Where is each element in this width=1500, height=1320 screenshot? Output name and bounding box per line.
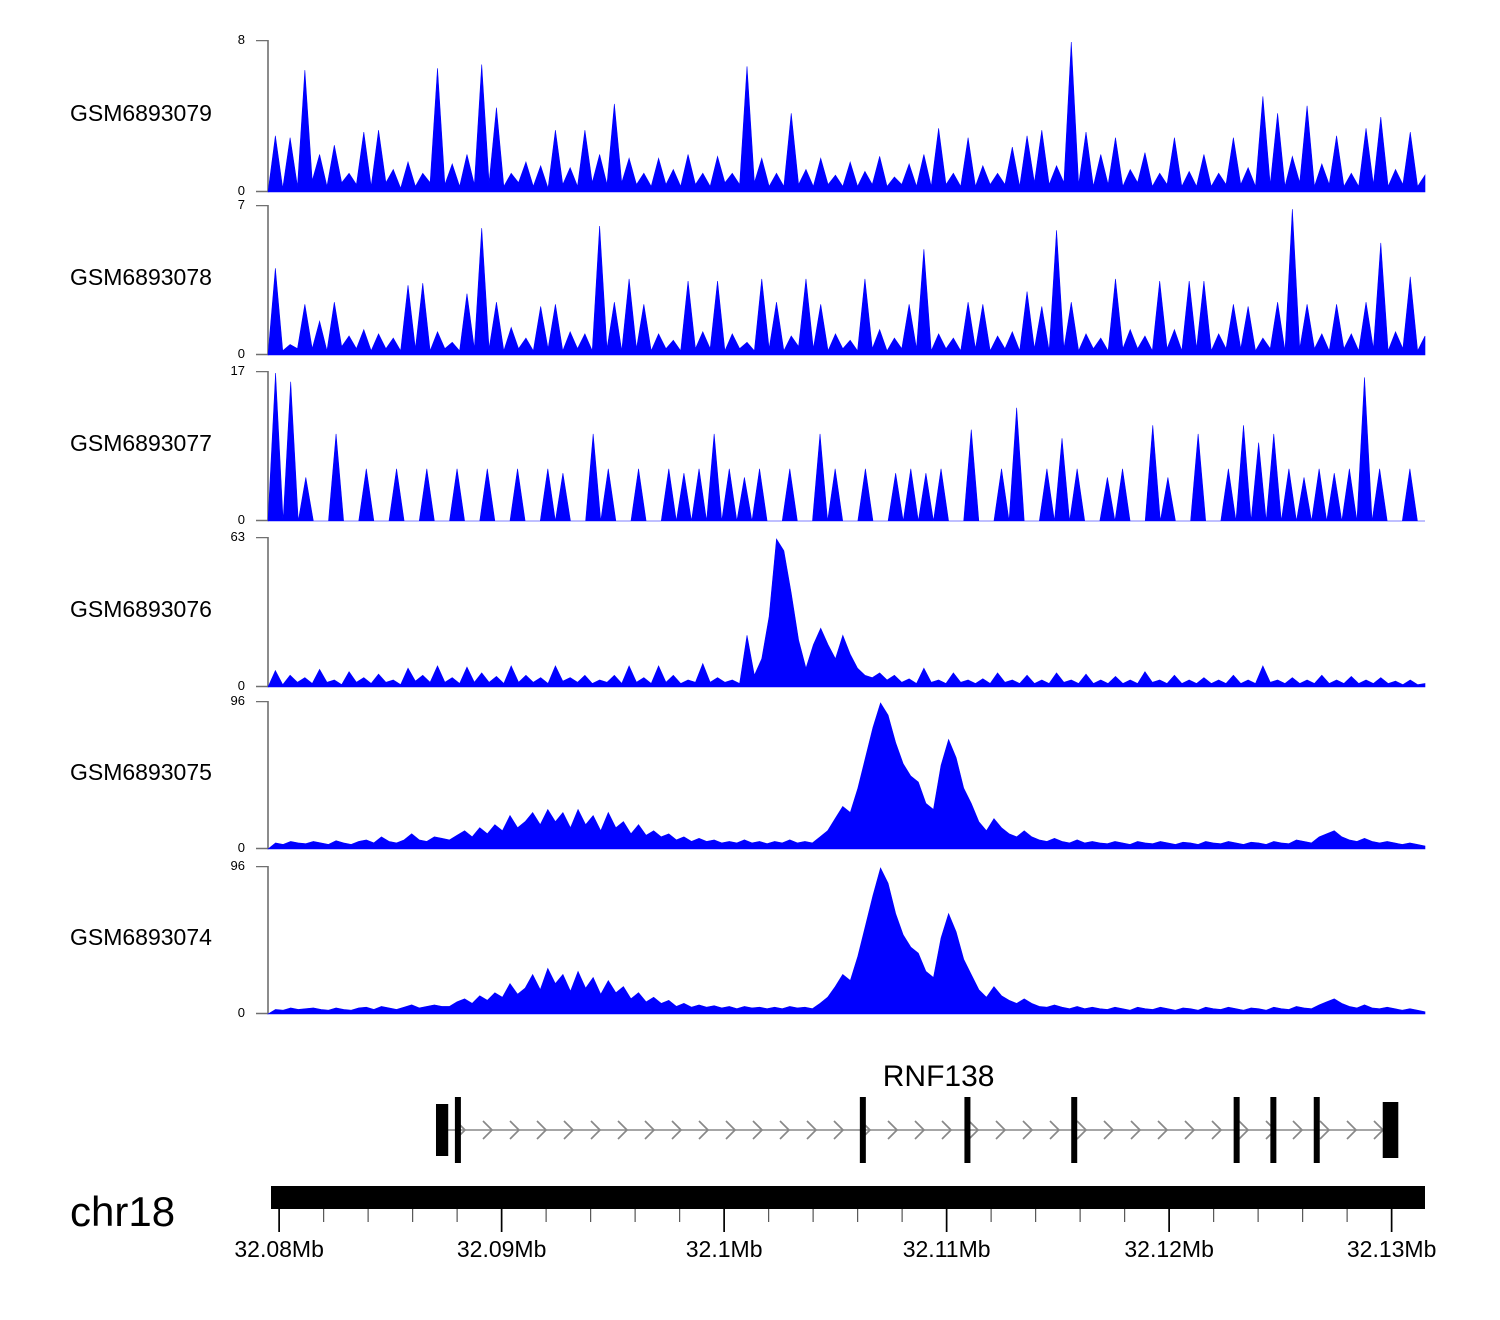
genome-browser-figure: GSM689307980GSM689307870GSM6893077170GSM… (0, 0, 1500, 1320)
exon-marker (455, 1097, 461, 1163)
gene-name-label: RNF138 (883, 1060, 995, 1094)
coverage-plot (0, 701, 1500, 855)
track-y-axis (256, 372, 268, 521)
coverage-plot (0, 205, 1500, 361)
coverage-area (268, 42, 1425, 192)
track-y-axis (256, 538, 268, 687)
axis-tick-label: 32.09Mb (457, 1236, 547, 1263)
axis-tick-label: 32.13Mb (1347, 1236, 1437, 1263)
track-y-axis (256, 41, 268, 192)
coverage-area (268, 703, 1425, 849)
utr-block (1383, 1102, 1399, 1158)
exon-marker (1314, 1097, 1320, 1163)
coverage-plot (0, 40, 1500, 198)
coverage-track: GSM6893074960 (0, 866, 1500, 1014)
exon-marker (1071, 1097, 1077, 1163)
exon-marker (964, 1097, 970, 1163)
coverage-track: GSM6893076630 (0, 537, 1500, 687)
coverage-plot (0, 371, 1500, 527)
axis-tick-label: 32.12Mb (1124, 1236, 1214, 1263)
coverage-plot (0, 537, 1500, 693)
chromosome-bar (271, 1186, 1425, 1209)
gene-model-svg (0, 1050, 1500, 1190)
exon-marker (860, 1097, 866, 1163)
track-y-axis (256, 867, 268, 1014)
coverage-plot (0, 866, 1500, 1020)
axis-tick-label: 32.08Mb (234, 1236, 324, 1263)
track-y-axis (256, 206, 268, 355)
gene-model-track: RNF138 (0, 1050, 1500, 1190)
utr-block (436, 1104, 448, 1156)
coverage-area (268, 539, 1425, 687)
axis-tick-label: 32.11Mb (903, 1236, 991, 1263)
coverage-track: GSM689307870 (0, 205, 1500, 355)
coverage-track: GSM689307980 (0, 40, 1500, 192)
axis-tick-label: 32.1Mb (686, 1236, 763, 1263)
coverage-area (268, 868, 1425, 1014)
coverage-area (268, 209, 1425, 355)
coverage-area (268, 373, 1425, 521)
coverage-track: GSM6893075960 (0, 701, 1500, 849)
coverage-track: GSM6893077170 (0, 371, 1500, 521)
track-y-axis (256, 702, 268, 849)
exon-marker (1270, 1097, 1276, 1163)
exon-marker (1234, 1097, 1240, 1163)
genomic-axis: 32.08Mb32.09Mb32.1Mb32.11Mb32.12Mb32.13M… (0, 1180, 1500, 1300)
